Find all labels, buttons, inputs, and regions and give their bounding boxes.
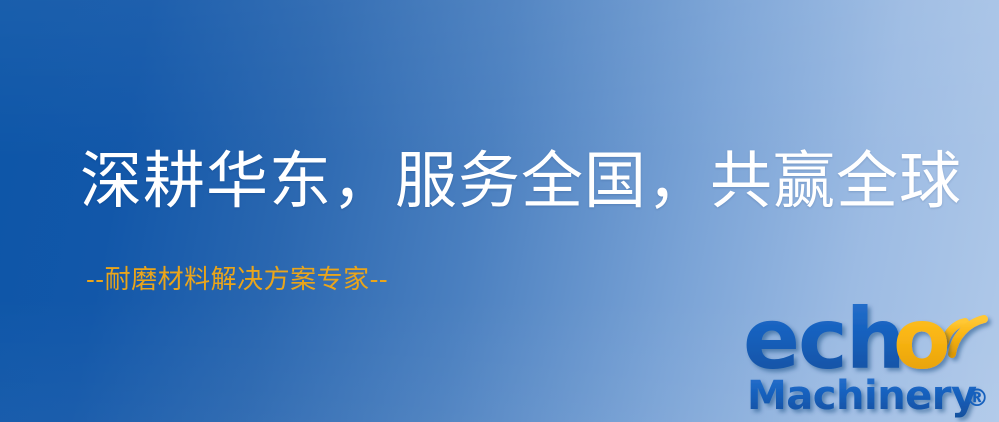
- banner-headline: 深耕华东，服务全国，共赢全球: [80, 150, 962, 212]
- banner-subtitle: --耐磨材料解决方案专家--: [86, 267, 388, 293]
- logo-wordmark-machinery: Machinery: [747, 373, 977, 419]
- signal-waves-icon: [945, 319, 984, 354]
- echo-machinery-logo[interactable]: ech o Machinery ®: [743, 296, 995, 420]
- logo-registered-mark: ®: [965, 384, 989, 412]
- hero-banner: 深耕华东，服务全国，共赢全球 --耐磨材料解决方案专家--: [0, 0, 999, 422]
